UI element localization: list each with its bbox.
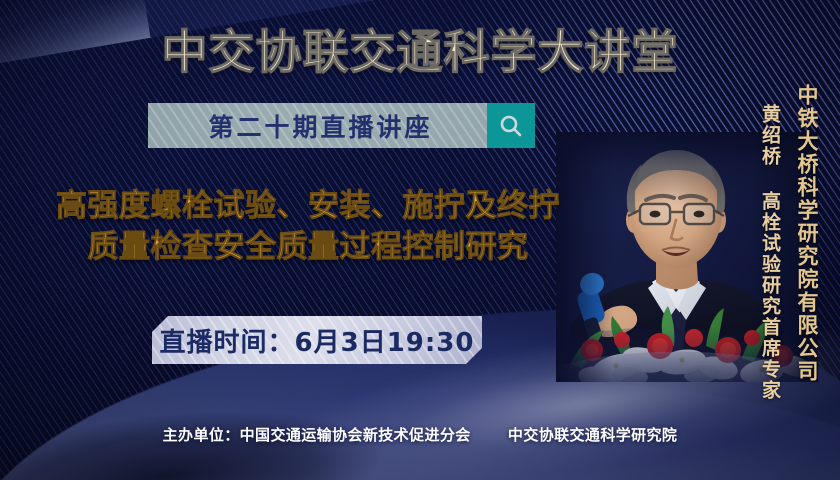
livestream-poster: 中交协联交通科学大讲堂 第二十期直播讲座 高强度螺栓试验、安装、施拧及终拧 质量… bbox=[0, 0, 840, 480]
series-label-text: 第二十期直播讲座 bbox=[208, 108, 432, 144]
footer-organizers: 主办单位：中国交通运输协会新技术促进分会 中交协联交通科学研究院 bbox=[0, 424, 840, 445]
speaker-organization: 中铁大桥科学研究院有限公司 bbox=[792, 84, 822, 383]
page-title: 中交协联交通科学大讲堂 bbox=[0, 16, 840, 82]
footer-organizer-primary: 主办单位：中国交通运输协会新技术促进分会 bbox=[163, 426, 471, 444]
speaker-name-title: 黄绍桥 高栓试验研究首席专家 bbox=[757, 104, 784, 401]
footer-organizer-secondary: 中交协联交通科学研究院 bbox=[508, 426, 677, 444]
lecture-topic-line-2: 质量检查安全质量过程控制研究 bbox=[8, 227, 608, 268]
lecture-topic: 高强度螺栓试验、安装、施拧及终拧 质量检查安全质量过程控制研究 bbox=[8, 186, 608, 268]
lecture-topic-line-1: 高强度螺栓试验、安装、施拧及终拧 bbox=[56, 188, 560, 224]
broadcast-time-badge: 直播时间：6月3日19:30 bbox=[152, 316, 482, 364]
search-button[interactable] bbox=[487, 103, 535, 148]
broadcast-time-text: 直播时间：6月3日19:30 bbox=[160, 322, 475, 359]
series-label-bar: 第二十期直播讲座 bbox=[148, 103, 493, 148]
search-icon bbox=[498, 113, 524, 139]
